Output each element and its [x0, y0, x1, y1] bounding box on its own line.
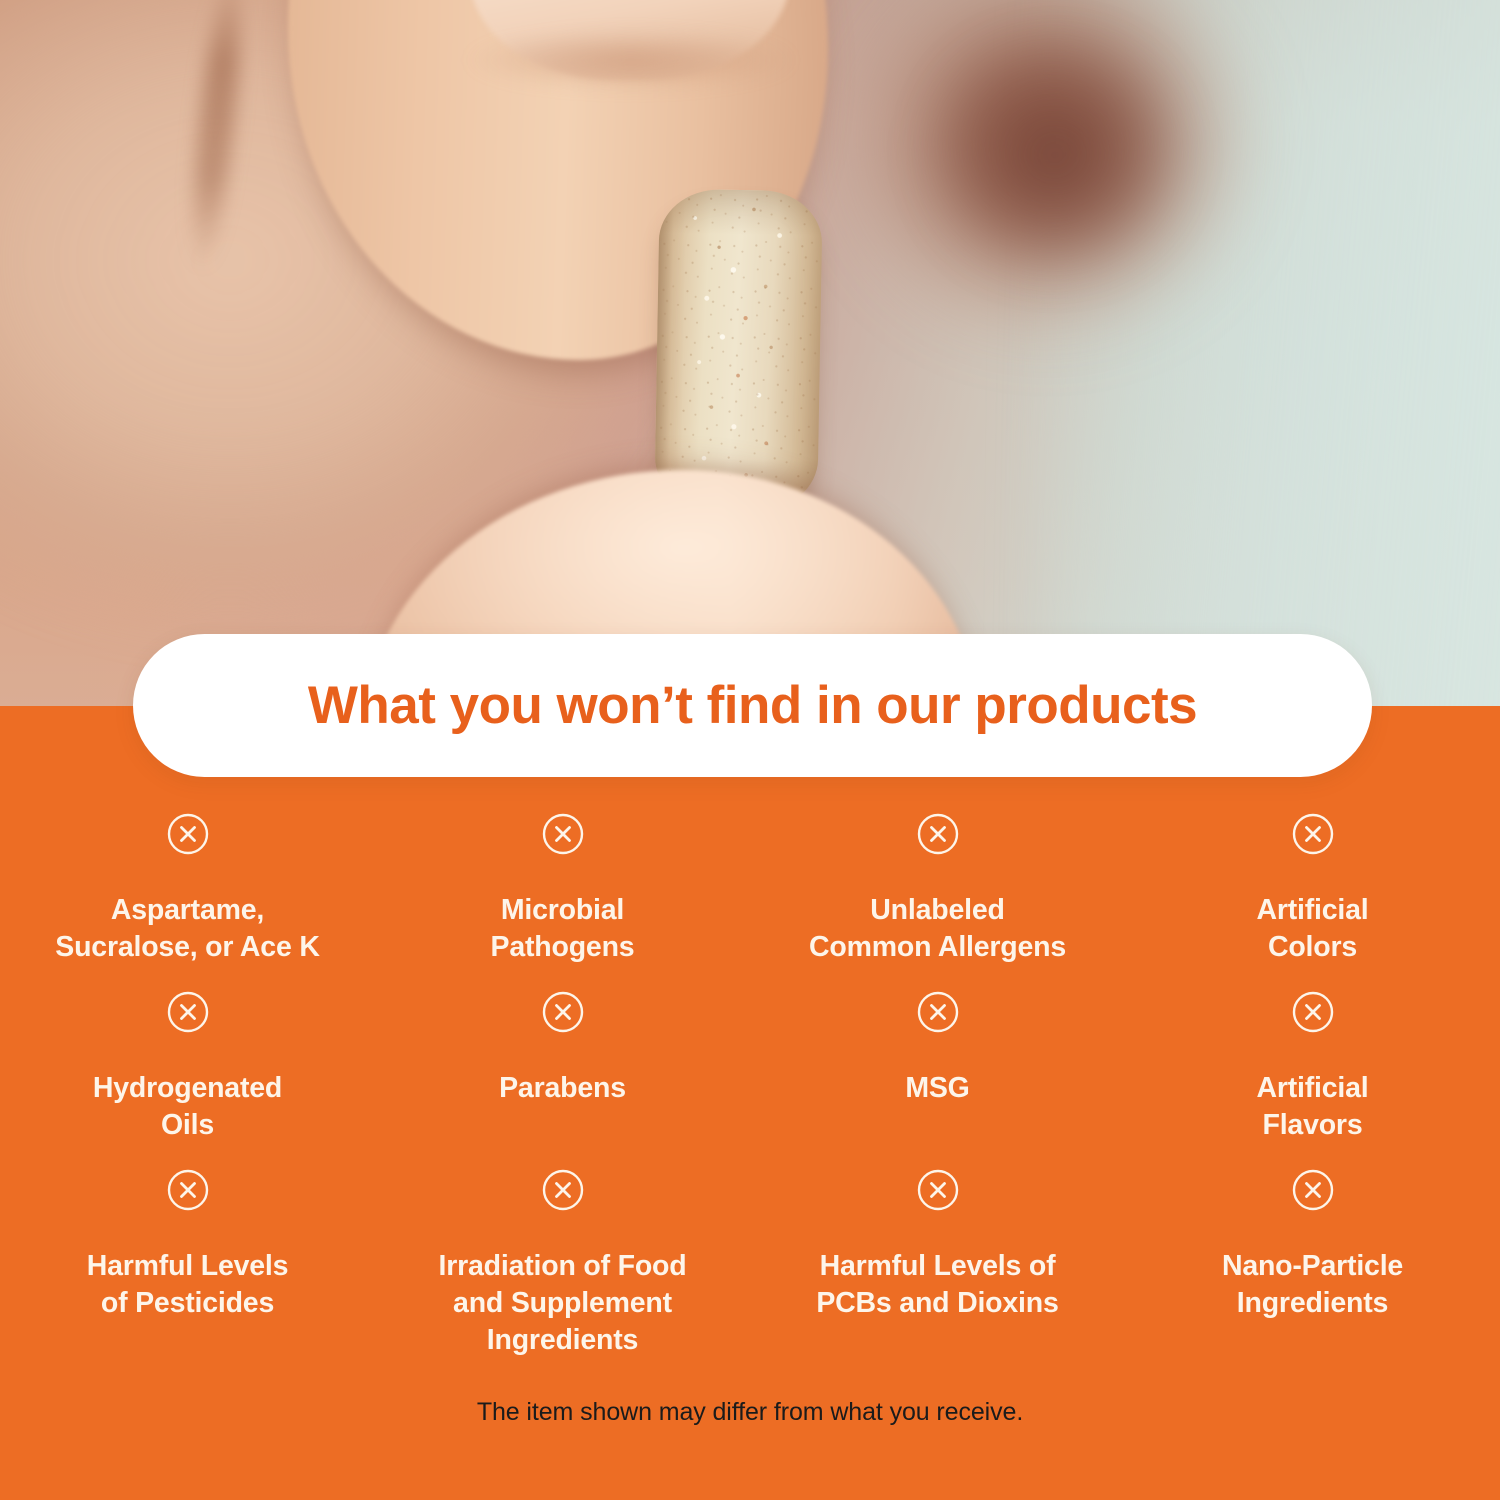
exclusion-item-label: Harmful Levels of Pesticides — [87, 1248, 289, 1322]
circle-x-icon — [1291, 812, 1335, 856]
product-benefits-graphic: What you won’t find in our products Aspa… — [0, 0, 1500, 1500]
exclusion-item: Harmful Levels of PCBs and Dioxins — [750, 1168, 1125, 1354]
circle-x-icon — [166, 990, 210, 1034]
exclusion-grid: Aspartame, Sucralose, or Ace K Microbial… — [0, 812, 1500, 1354]
product-photo — [0, 0, 1500, 712]
circle-x-icon — [1291, 990, 1335, 1034]
exclusion-item-label: Parabens — [499, 1070, 626, 1107]
exclusion-item: Harmful Levels of Pesticides — [0, 1168, 375, 1354]
circle-x-icon — [916, 990, 960, 1034]
circle-x-icon — [541, 1168, 585, 1212]
exclusion-item: Parabens — [375, 990, 750, 1168]
exclusion-item: MSG — [750, 990, 1125, 1168]
exclusion-item-label: Microbial Pathogens — [491, 892, 635, 966]
circle-x-icon — [166, 812, 210, 856]
exclusion-item-label: Hydrogenated Oils — [93, 1070, 282, 1144]
exclusion-item: Unlabeled Common Allergens — [750, 812, 1125, 990]
circle-x-icon — [916, 1168, 960, 1212]
headline-text-emphasis: won’t — [557, 676, 693, 735]
exclusion-item-label: Irradiation of Food and Supplement Ingre… — [439, 1248, 687, 1359]
exclusion-item-label: Harmful Levels of PCBs and Dioxins — [816, 1248, 1058, 1322]
exclusion-item: Hydrogenated Oils — [0, 990, 375, 1168]
disclaimer-text: The item shown may differ from what you … — [0, 1398, 1500, 1427]
circle-x-icon — [916, 812, 960, 856]
tablet-shading — [654, 189, 823, 512]
circle-x-icon — [541, 990, 585, 1034]
exclusion-item-label: Artificial Colors — [1256, 892, 1368, 966]
exclusion-item-label: Unlabeled Common Allergens — [809, 892, 1066, 966]
thumbnail-edge — [466, 30, 796, 90]
exclusion-item-label: Nano-Particle Ingredients — [1222, 1248, 1403, 1322]
headline-text-after: find in our products — [692, 676, 1197, 735]
exclusion-item: Irradiation of Food and Supplement Ingre… — [375, 1168, 750, 1354]
exclusion-item: Nano-Particle Ingredients — [1125, 1168, 1500, 1354]
circle-x-icon — [1291, 1168, 1335, 1212]
circle-x-icon — [541, 812, 585, 856]
exclusion-item: Artificial Flavors — [1125, 990, 1500, 1168]
circle-x-icon — [166, 1168, 210, 1212]
exclusion-item-label: Artificial Flavors — [1256, 1070, 1368, 1144]
page-title: What you won’t find in our products — [308, 679, 1197, 732]
supplement-tablet — [654, 189, 823, 512]
exclusion-item: Microbial Pathogens — [375, 812, 750, 990]
exclusion-item: Aspartame, Sucralose, or Ace K — [0, 812, 375, 990]
headline-pill: What you won’t find in our products — [133, 634, 1372, 777]
background-dark-blur-core — [930, 40, 1180, 270]
exclusion-item-label: MSG — [905, 1070, 969, 1107]
exclusion-item: Artificial Colors — [1125, 812, 1500, 990]
exclusion-item-label: Aspartame, Sucralose, or Ace K — [55, 892, 319, 966]
headline-text-before: What you — [308, 676, 557, 735]
